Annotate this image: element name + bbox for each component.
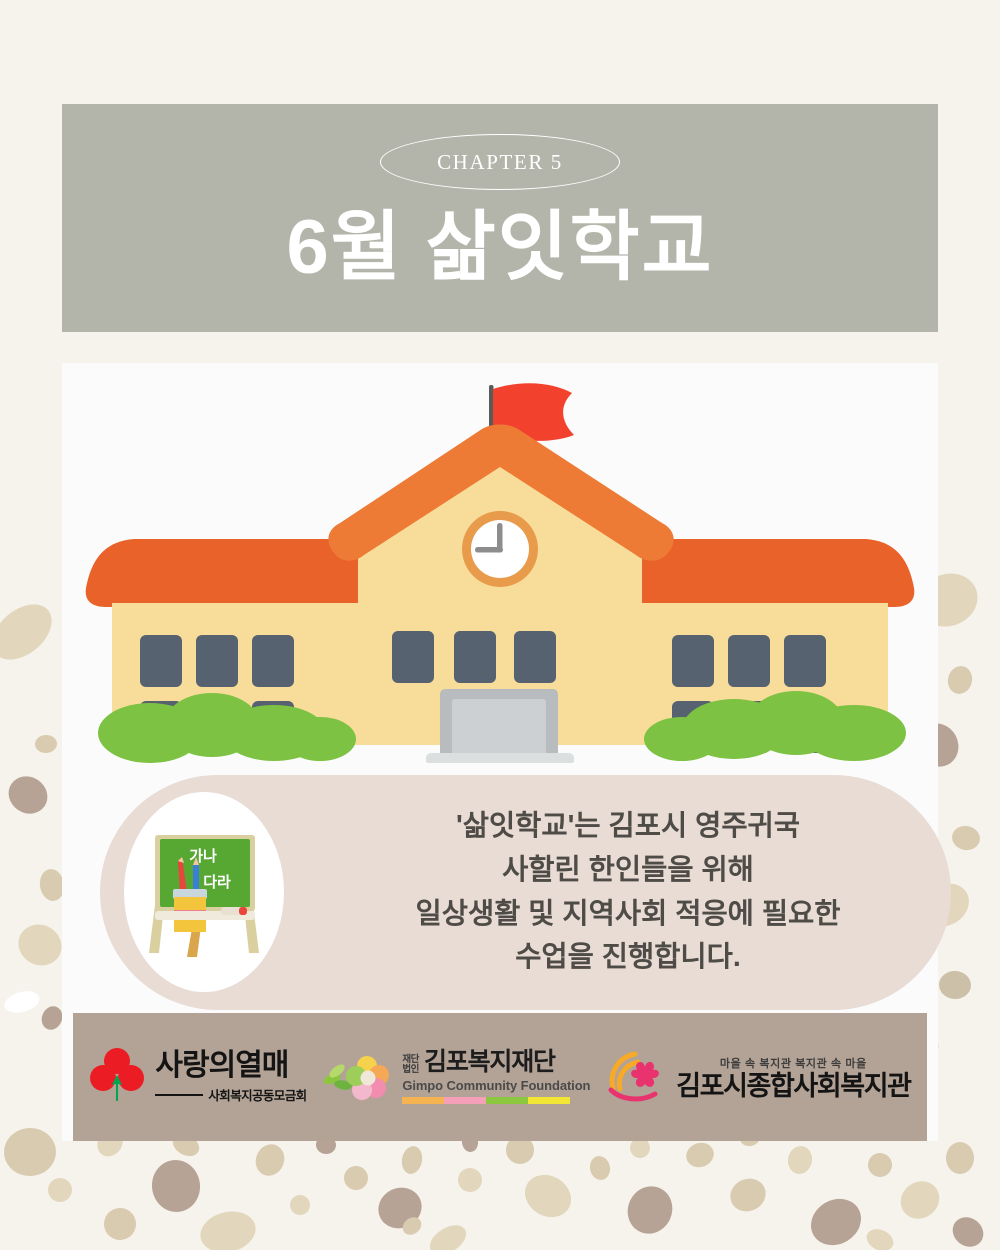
confetti-blob (683, 1139, 717, 1171)
chalkboard-easel-icon: 가나 다라 (129, 807, 279, 977)
confetti-blob (517, 1167, 579, 1226)
confetti-blob (425, 1219, 472, 1250)
gcf-english-text: Gimpo Community Foundation (402, 1078, 590, 1093)
confetti-blob (945, 663, 976, 697)
gimpo-foundation-flower-icon (323, 1049, 393, 1105)
confetti-blob (371, 1180, 428, 1235)
description-line-3: 일상생활 및 지역사회 적응에 필요한 (416, 894, 841, 936)
gcf-color-bar-segment (444, 1097, 486, 1104)
confetti-blob (785, 1144, 814, 1176)
confetti-blob (946, 1142, 974, 1174)
door (452, 699, 546, 761)
confetti-blob (149, 1157, 204, 1215)
confetti-blob (11, 917, 69, 973)
gimpo-welfare-center-mark-icon (607, 1048, 669, 1106)
description-line-4: 수업을 진행합니다. (515, 937, 741, 979)
content-card: 가나 다라 (62, 363, 938, 1141)
confetti-blob (400, 1144, 425, 1175)
gimpo-community-foundation-logo: 재단 법인 김포복지재단 Gimpo Community Foundation (323, 1049, 590, 1105)
confetti-blob (44, 1174, 77, 1207)
description-line-2: 사할린 한인들을 위해 (502, 850, 754, 892)
confetti-blob (102, 1206, 137, 1241)
description-line-1: '삶잇학교'는 김포시 영주귀국 (456, 806, 800, 848)
confetti-blob (1, 769, 54, 821)
confetti-blob (947, 1211, 989, 1250)
fruit-of-love-main-text: 사랑의열매 (155, 1050, 288, 1082)
confetti-blob (802, 1190, 869, 1250)
gcf-prefix-line2: 법인 (402, 1065, 419, 1075)
gcf-color-bar-segment (402, 1097, 444, 1104)
page-title: 6월 삶잇학교 (287, 204, 714, 291)
board-text-line2: 다라 (203, 874, 231, 891)
confetti-blob (950, 824, 982, 852)
gwc-tagline: 마을 속 복지관 복지관 속 마을 (720, 1055, 867, 1071)
fruit-of-love-sub-text: 사회복지공동모금회 (208, 1085, 306, 1104)
description-text: '삶잇학교'는 김포시 영주귀국 사할린 한인들을 위해 일상생활 및 지역사회… (305, 775, 951, 1010)
sponsor-logo-bar: 사랑의열매 사회복지공동모금회 (73, 1013, 927, 1141)
clock-hand-hour (475, 547, 503, 553)
easel-badge: 가나 다라 (124, 792, 284, 992)
center-tower-windows (392, 631, 556, 683)
chapter-label: CHAPTER 5 (437, 150, 563, 175)
gimpo-welfare-center-logo: 마을 속 복지관 복지관 속 마을 김포시종합사회복지관 (607, 1048, 910, 1106)
board-text-line1: 가나 (189, 848, 217, 865)
confetti-blob (3, 1127, 57, 1177)
confetti-blob (0, 593, 62, 670)
confetti-blob (2, 988, 42, 1017)
fruit-of-love-mark-icon (89, 1045, 145, 1109)
gcf-color-bar-segment (528, 1097, 570, 1104)
clock-hand-minute (497, 523, 503, 551)
cup-band-yellow (174, 897, 206, 910)
confetti-blob (588, 1154, 613, 1182)
chapter-badge: CHAPTER 5 (380, 134, 620, 190)
gcf-color-bar-segment (486, 1097, 528, 1104)
confetti-blob (863, 1225, 897, 1250)
description-panel: 가나 다라 (100, 775, 951, 1010)
confetti-blob (893, 1174, 947, 1227)
confetti-blob (399, 1214, 425, 1239)
gcf-main-text: 김포복지재단 (424, 1050, 555, 1075)
gcf-color-bars (402, 1097, 570, 1104)
confetti-blob (867, 1152, 893, 1178)
confetti-blob (251, 1140, 289, 1180)
confetti-blob (196, 1206, 260, 1250)
confetti-blob (725, 1173, 771, 1217)
eraser-tip (239, 907, 247, 915)
confetti-blob (458, 1168, 482, 1192)
confetti-blob (341, 1163, 371, 1193)
school-building-illustration (62, 363, 938, 763)
chapter-header-band: CHAPTER 5 6월 삶잇학교 (62, 104, 938, 332)
cup-band-yellow-2 (174, 920, 206, 932)
confetti-blob (287, 1192, 313, 1218)
gwc-main-text: 김포시종합사회복지관 (676, 1073, 910, 1100)
confetti-blob (35, 734, 58, 753)
fruit-of-love-subline: 사회복지공동모금회 (155, 1085, 306, 1104)
rule-line (155, 1094, 203, 1096)
fruit-of-love-logo: 사랑의열매 사회복지공동모금회 (89, 1045, 306, 1109)
confetti-blob (620, 1179, 680, 1241)
door-step (426, 753, 574, 763)
poster-page: CHAPTER 5 6월 삶잇학교 (0, 0, 1000, 1250)
